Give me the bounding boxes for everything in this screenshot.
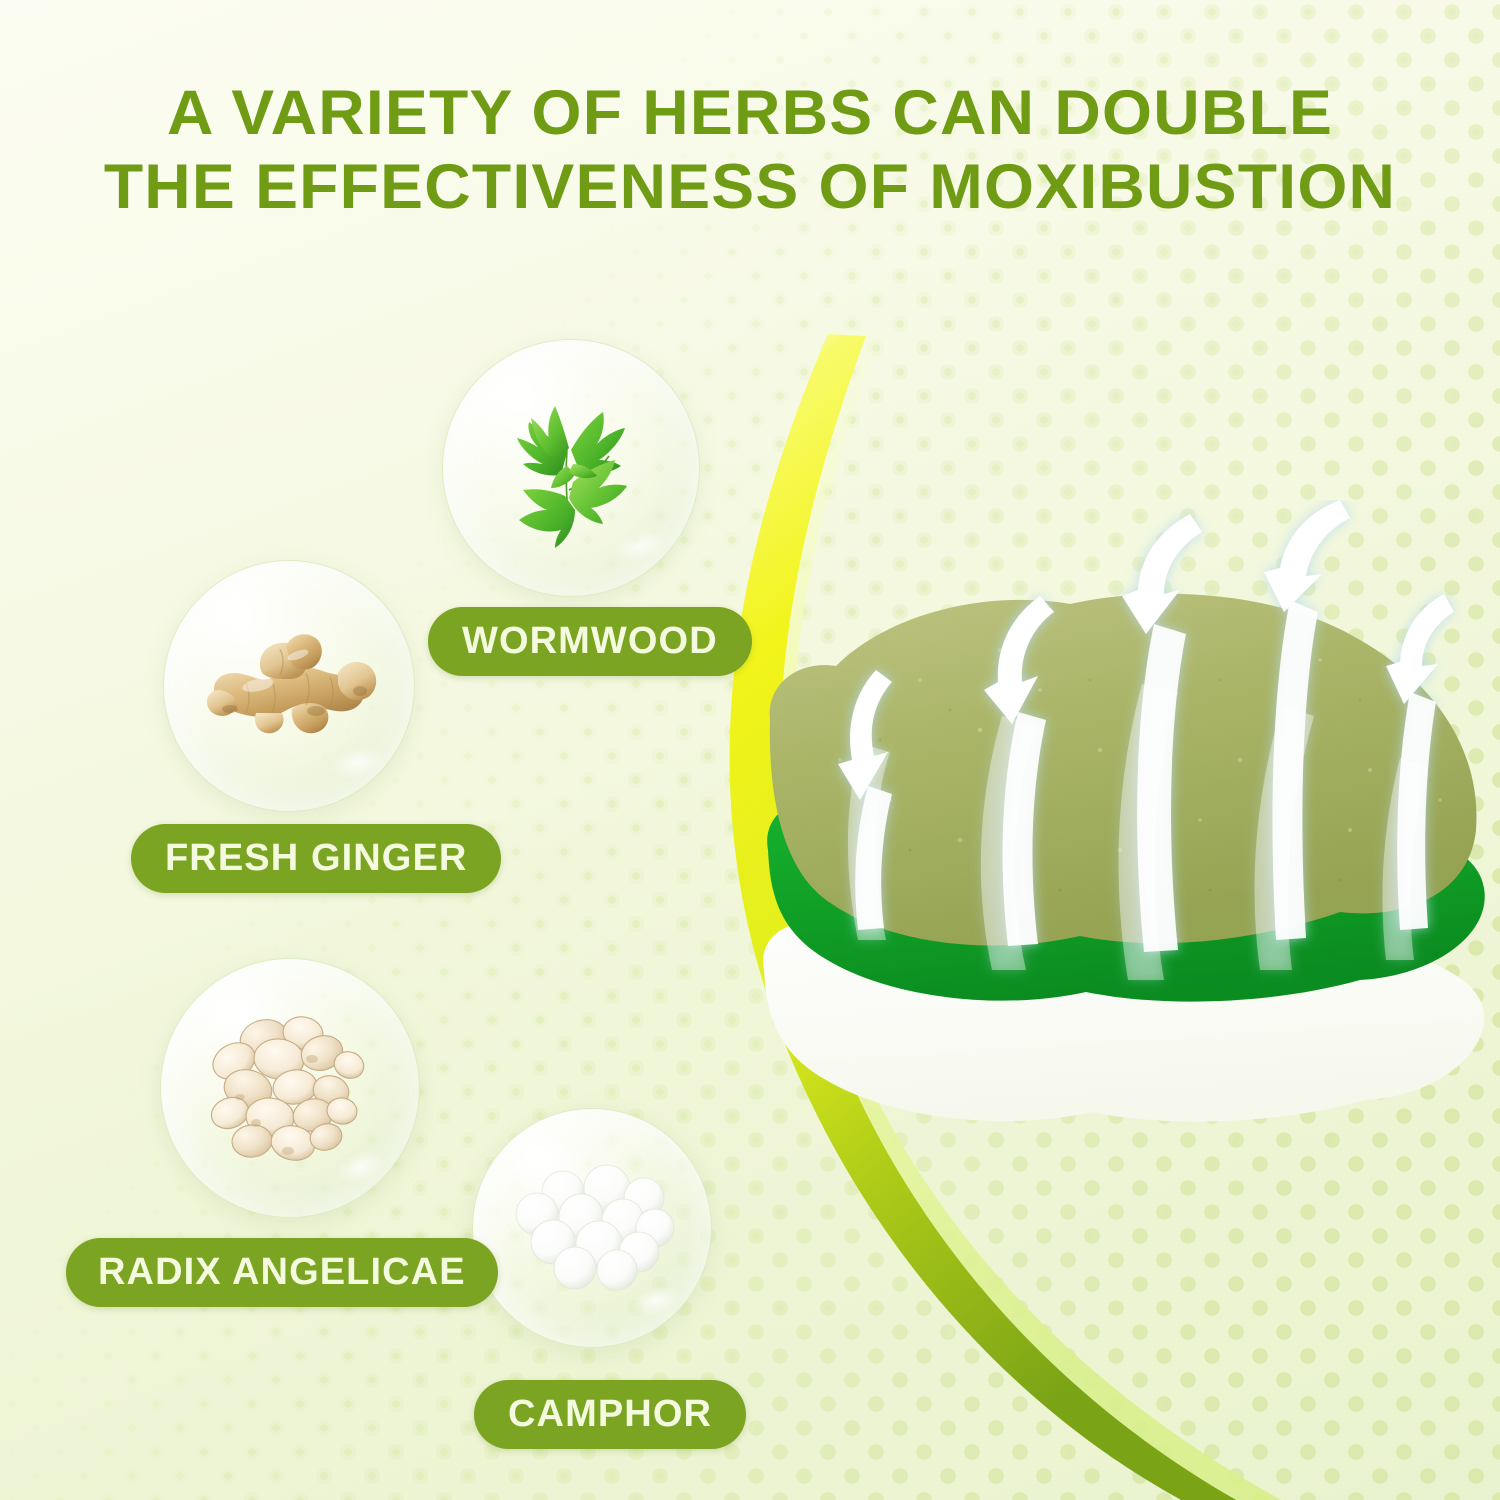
angelica-root-slices-icon [161, 959, 419, 1217]
ingredient-bubble-camphor [472, 1108, 712, 1348]
ingredient-label-wormwood: WORMWOOD [428, 607, 752, 676]
headline-line-1: A VARIETY OF HERBS CAN DOUBLE [0, 76, 1500, 150]
ingredient-label-camphor: CAMPHOR [474, 1380, 746, 1449]
page-title: A VARIETY OF HERBS CAN DOUBLE THE EFFECT… [0, 76, 1500, 225]
ginger-root-icon [164, 561, 414, 811]
herb-infographic-poster: A VARIETY OF HERBS CAN DOUBLE THE EFFECT… [0, 0, 1500, 1500]
ingredient-label-radix-angelicae: RADIX ANGELICAE [66, 1238, 498, 1307]
camphor-balls-icon [473, 1109, 711, 1347]
headline-line-2: THE EFFECTIVENESS OF MOXIBUSTION [0, 150, 1500, 224]
ingredient-label-fresh-ginger: FRESH GINGER [131, 824, 501, 893]
ingredient-bubble-fresh-ginger [163, 560, 415, 812]
wormwood-sprig-icon [443, 340, 699, 596]
moxibustion-patch-cross-section [740, 500, 1500, 1180]
ingredient-bubble-wormwood [442, 339, 700, 597]
ingredient-bubble-radix-angelicae [160, 958, 420, 1218]
